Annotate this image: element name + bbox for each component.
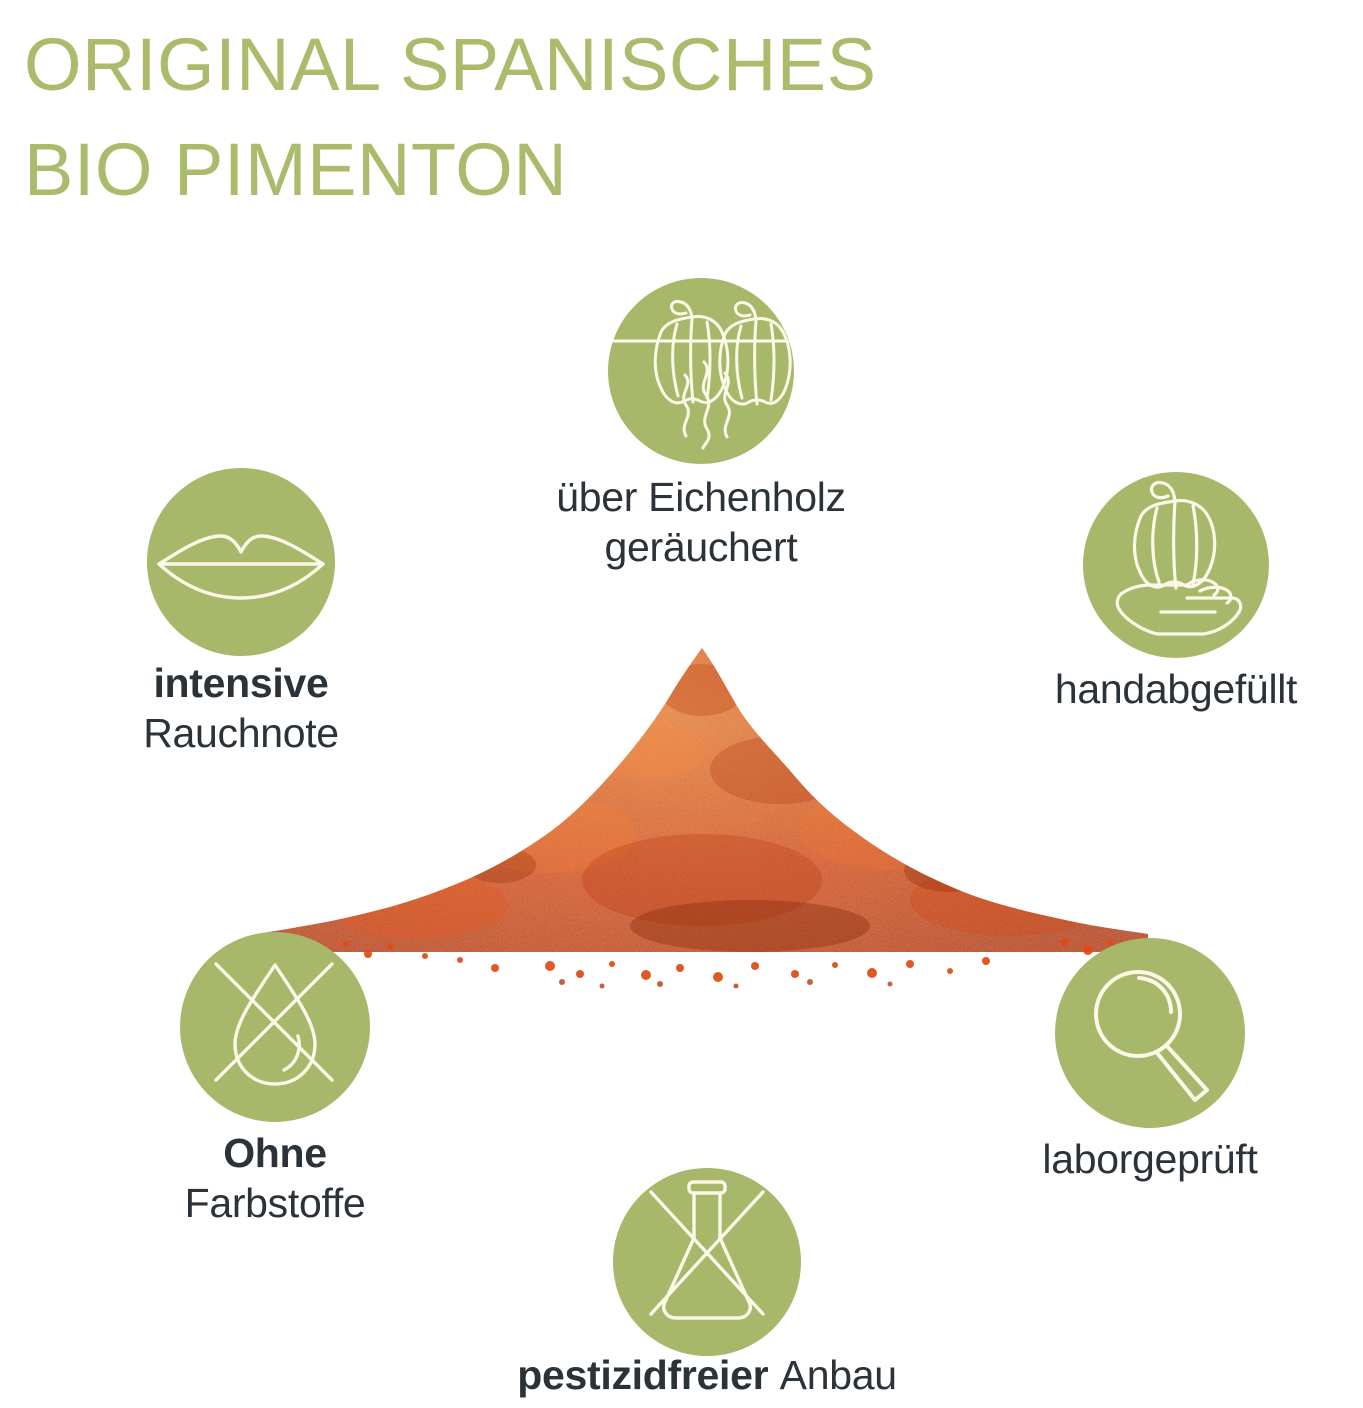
caption-line-1: Ohne: [223, 1130, 327, 1176]
badge-caption-pesticide: pestizidfreier Anbau: [417, 1350, 997, 1400]
magnifier-icon: [1055, 938, 1245, 1128]
caption-line-1: handabgefüllt: [1055, 666, 1297, 712]
badge-circle-nodye: [180, 932, 370, 1122]
caption-line-2: Anbau: [780, 1352, 897, 1398]
lips-icon: [147, 468, 335, 656]
badge-smoked: über Eichenholz geräuchert: [608, 278, 794, 464]
badge-nodye: Ohne Farbstoffe: [180, 932, 370, 1122]
badge-caption-lab: laborgeprüft: [965, 1134, 1335, 1184]
badge-caption-nodye: Ohne Farbstoffe: [100, 1128, 450, 1228]
badge-handfilled: handabgefüllt: [1083, 472, 1269, 658]
caption-line-1: pestizidfreier: [517, 1352, 768, 1398]
infographic-page: ORIGINAL SPANISCHES BIO PIMENTON: [0, 0, 1363, 1408]
caption-line-2: Farbstoffe: [185, 1180, 366, 1226]
badge-circle-smoked: [608, 278, 794, 464]
peppers-smoking-icon: [608, 278, 794, 464]
badge-caption-smoke-note: intensive Rauchnote: [79, 658, 403, 758]
badge-caption-smoked: über Eichenholz geräuchert: [490, 472, 912, 572]
badge-lab: laborgeprüft: [1055, 938, 1245, 1128]
badge-circle-lab: [1055, 938, 1245, 1128]
badge-circle-smoke-note: [147, 468, 335, 656]
no-pesticide-flask-icon: [613, 1168, 801, 1356]
caption-line-1: über Eichenholz: [556, 474, 846, 520]
badge-caption-handfilled: handabgefüllt: [983, 664, 1363, 714]
caption-line-2: geräuchert: [604, 524, 797, 570]
badge-smoke-note: intensive Rauchnote: [147, 468, 335, 656]
caption-line-1: intensive: [153, 660, 328, 706]
no-dye-droplet-icon: [180, 932, 370, 1122]
pepper-in-hand-icon: [1083, 472, 1269, 658]
caption-line-1: laborgeprüft: [1042, 1136, 1257, 1182]
caption-line-2: Rauchnote: [143, 710, 339, 756]
page-title: ORIGINAL SPANISCHES BIO PIMENTON: [24, 12, 1204, 222]
badge-pesticide: pestizidfreier Anbau: [613, 1168, 801, 1356]
badge-circle-pesticide: [613, 1168, 801, 1356]
badge-circle-handfilled: [1083, 472, 1269, 658]
